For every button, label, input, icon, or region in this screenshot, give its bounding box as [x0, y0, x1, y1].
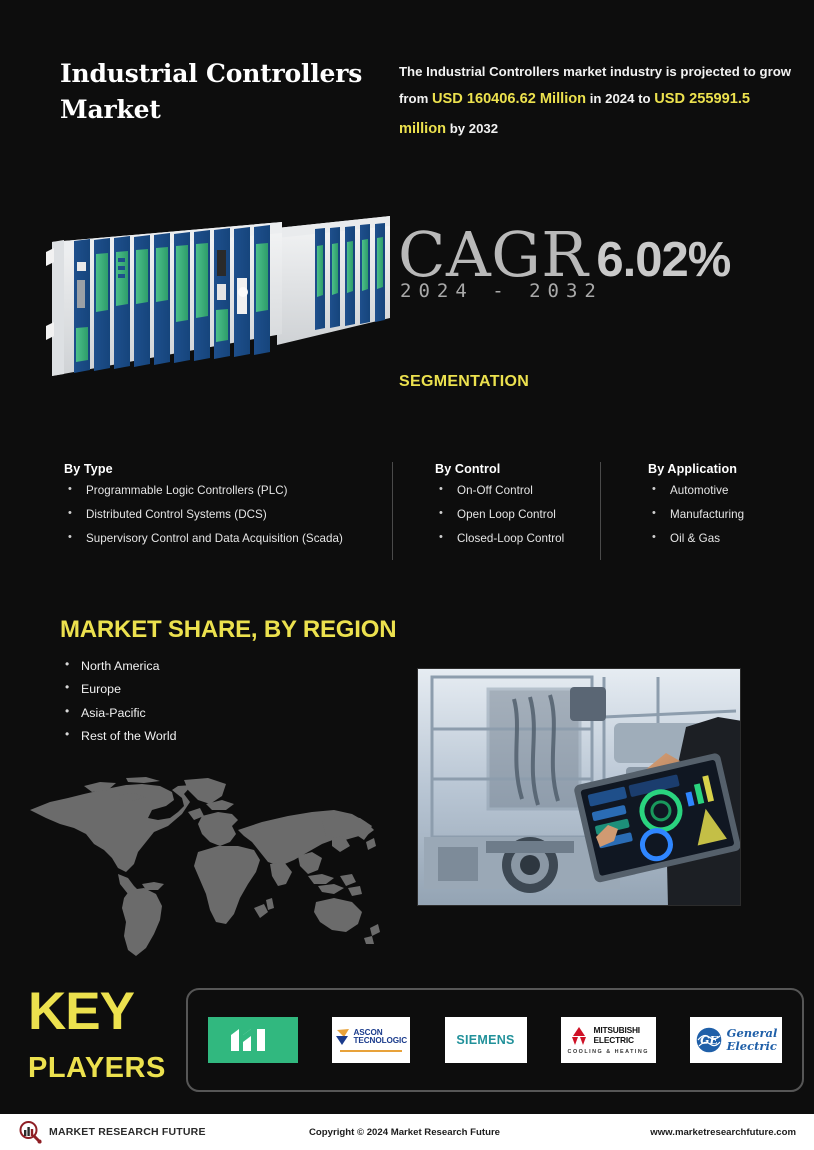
market-summary-text: The Industrial Controllers market indust…	[399, 58, 799, 145]
cagr-period: 2024 - 2032	[400, 280, 603, 302]
list-item: North America	[62, 660, 177, 683]
ni-logo-tile	[208, 1017, 298, 1063]
page-title: Industrial Controllers Market	[60, 56, 370, 127]
list-item: Oil & Gas	[648, 533, 808, 557]
ascon-label-bottom: TECNOLOGIC	[353, 1037, 407, 1046]
summary-part-2: in 2024 to	[586, 91, 654, 106]
list-item: Supervisory Control and Data Acquisition…	[64, 533, 379, 557]
list-item: On-Off Control	[435, 485, 605, 509]
list-item: Asia-Pacific	[62, 707, 177, 730]
logo-mitsubishi-electric[interactable]: MITSUBISHI ELECTRIC COOLING & HEATING	[561, 1018, 656, 1063]
magnifier-chart-logo-icon	[18, 1120, 42, 1144]
footer-copyright: Copyright © 2024 Market Research Future	[309, 1127, 500, 1138]
infographic-page: Industrial Controllers Market The Indust…	[0, 0, 814, 1150]
mitsubishi-logo-card: MITSUBISHI ELECTRIC COOLING & HEATING	[561, 1017, 656, 1063]
siemens-logo-card: SIEMENS	[445, 1017, 527, 1063]
logo-ni[interactable]	[208, 1018, 298, 1063]
ge-text: General Electric	[727, 1027, 778, 1052]
ni-wordmark-icon	[229, 1027, 277, 1053]
column-list: Programmable Logic Controllers (PLC) Dis…	[64, 485, 379, 558]
logo-ascon-tecnologic[interactable]: ASCON TECNOLOGIC	[332, 1018, 410, 1063]
segmentation-column-by-type: By Type Programmable Logic Controllers (…	[64, 462, 379, 558]
ge-label-bottom: Electric	[727, 1040, 778, 1053]
market-value-2024: USD 160406.62 Million	[432, 91, 586, 107]
world-map-image	[22, 772, 392, 967]
list-item: Open Loop Control	[435, 509, 605, 533]
mitsubishi-label-bottom: ELECTRIC	[594, 1036, 640, 1045]
mitsubishi-three-diamonds-icon	[568, 1026, 590, 1046]
key-players-logo-box: ASCON TECNOLOGIC SIEMENS	[186, 988, 804, 1092]
ascon-underline	[340, 1050, 402, 1052]
list-item: Closed-Loop Control	[435, 533, 605, 557]
market-share-region-list: North America Europe Asia-Pacific Rest o…	[62, 660, 177, 754]
ge-row: GE General Electric	[695, 1026, 778, 1054]
column-title: By Control	[435, 462, 605, 476]
list-item: Automotive	[648, 485, 808, 509]
footer-brand-text: MARKET RESEARCH FUTURE	[49, 1126, 206, 1138]
logo-siemens[interactable]: SIEMENS	[445, 1018, 527, 1063]
segmentation-column-by-control: By Control On-Off Control Open Loop Cont…	[435, 462, 605, 558]
summary-part-3: by 2032	[446, 121, 498, 136]
segmentation-columns: By Type Programmable Logic Controllers (…	[0, 462, 814, 567]
list-item: Europe	[62, 683, 177, 706]
ascon-logo-card: ASCON TECNOLOGIC	[332, 1017, 410, 1063]
list-item: Rest of the World	[62, 730, 177, 753]
mitsubishi-stack: MITSUBISHI ELECTRIC COOLING & HEATING	[568, 1026, 649, 1055]
list-item: Distributed Control Systems (DCS)	[64, 509, 379, 533]
ascon-triangle-icon	[335, 1028, 351, 1046]
column-title: By Application	[648, 462, 808, 476]
cagr-value: 6.02%	[596, 233, 730, 287]
mitsubishi-text: MITSUBISHI ELECTRIC	[594, 1026, 640, 1045]
key-players-title-line2: PLAYERS	[28, 1054, 166, 1083]
mitsubishi-tagline: COOLING & HEATING	[568, 1049, 649, 1055]
product-image-plc-rack	[34, 200, 390, 390]
logo-general-electric[interactable]: GE General Electric	[690, 1018, 782, 1063]
segmentation-column-by-application: By Application Automotive Manufacturing …	[648, 462, 808, 558]
ascon-text: ASCON TECNOLOGIC	[353, 1029, 407, 1046]
footer-url[interactable]: www.marketresearchfuture.com	[650, 1127, 796, 1138]
svg-text:GE: GE	[700, 1034, 718, 1047]
list-item: Manufacturing	[648, 509, 808, 533]
list-item: Programmable Logic Controllers (PLC)	[64, 485, 379, 509]
segmentation-heading: SEGMENTATION	[399, 373, 529, 391]
footer: MARKET RESEARCH FUTURE Copyright © 2024 …	[0, 1114, 814, 1150]
column-title: By Type	[64, 462, 379, 476]
siemens-wordmark: SIEMENS	[456, 1033, 514, 1047]
ascon-row: ASCON TECNOLOGIC	[335, 1028, 407, 1046]
market-share-heading: MARKET SHARE, BY REGION	[60, 616, 396, 644]
ge-monogram-icon: GE	[695, 1026, 723, 1054]
footer-brand[interactable]: MARKET RESEARCH FUTURE	[18, 1120, 206, 1144]
column-list: Automotive Manufacturing Oil & Gas	[648, 485, 808, 558]
mitsubishi-row: MITSUBISHI ELECTRIC	[568, 1026, 649, 1046]
ge-logo-card: GE General Electric	[690, 1017, 782, 1063]
column-list: On-Off Control Open Loop Control Closed-…	[435, 485, 605, 558]
key-players-title-line1: KEY	[28, 985, 134, 1038]
factory-tablet-photo	[417, 668, 741, 906]
